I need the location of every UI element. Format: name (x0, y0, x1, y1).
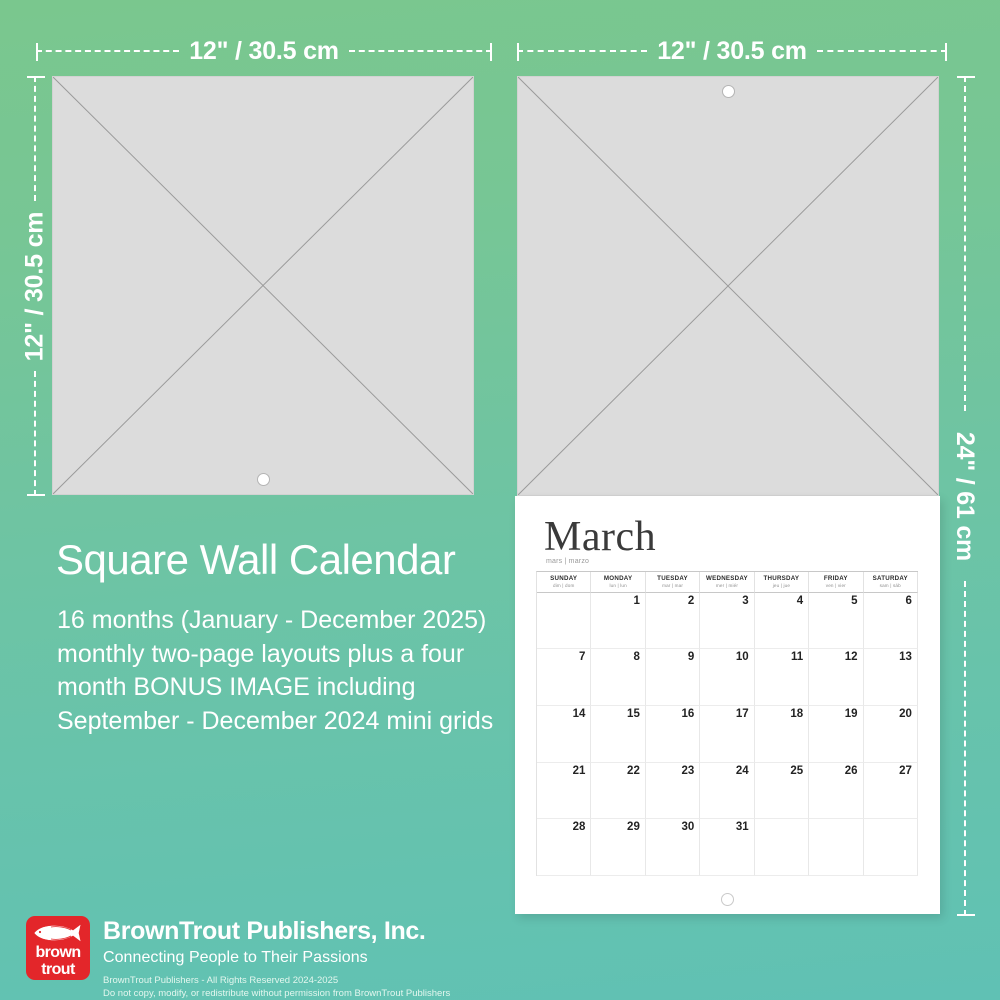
dimension-top-right: 12" / 30.5 cm (517, 36, 947, 66)
placeholder-cross-icon (53, 77, 473, 494)
calendar-day-cell[interactable]: 19 (809, 706, 863, 763)
calendar-day-cell[interactable]: 13 (864, 649, 918, 706)
calendar-week-row: 7 8 9 10 11 12 13 (537, 649, 918, 706)
footer: brown trout BrownTrout Publishers, Inc. … (26, 916, 450, 1000)
calendar-day-cell[interactable]: 22 (591, 763, 645, 820)
day-number: 23 (681, 766, 694, 778)
day-header-abbr: lun | lun (591, 583, 644, 589)
dimension-right-vertical-label: 24" / 61 cm (953, 431, 978, 560)
hanging-hole (257, 473, 270, 486)
day-number: 16 (681, 709, 694, 721)
day-number: 19 (845, 709, 858, 721)
day-number: 1 (633, 596, 639, 608)
calendar-day-cell[interactable] (864, 819, 918, 876)
calendar-day-cell[interactable]: 29 (591, 819, 645, 876)
day-header-name: THURSDAY (755, 575, 808, 583)
day-number: 15 (627, 709, 640, 721)
day-number: 24 (736, 766, 749, 778)
day-number: 7 (579, 652, 585, 664)
dimension-right-vertical: 24" / 61 cm (950, 76, 980, 916)
day-number: 11 (791, 652, 803, 664)
day-header-saturday: SATURDAY sam | sáb (864, 572, 918, 593)
calendar-grid: SUNDAY dim | dom MONDAY lun | lun TUESDA… (536, 571, 918, 876)
day-number: 12 (845, 652, 858, 664)
dimension-top-left-label: 12" / 30.5 cm (189, 39, 339, 64)
day-number: 28 (573, 822, 586, 834)
calendar-day-cell[interactable]: 7 (537, 649, 591, 706)
dimension-rule-bottom (964, 581, 966, 916)
day-number: 10 (736, 652, 749, 664)
day-header-name: MONDAY (591, 575, 644, 583)
dimension-left-vertical-label: 12" / 30.5 cm (23, 211, 48, 361)
day-header-monday: MONDAY lun | lun (591, 572, 645, 593)
dimension-rule-right (817, 50, 947, 52)
day-number: 3 (742, 596, 748, 608)
dimension-rule-top (34, 76, 36, 201)
day-number: 25 (790, 766, 803, 778)
calendar-week-row: 21 22 23 24 25 26 27 (537, 763, 918, 820)
calendar-page: March mars | marzo SUNDAY dim | dom MOND… (515, 496, 940, 914)
company-tagline: Connecting People to Their Passions (103, 947, 450, 969)
hanging-hole (721, 893, 734, 906)
placeholder-cross-icon (518, 77, 938, 495)
day-number: 6 (906, 596, 912, 608)
calendar-day-cell[interactable]: 17 (700, 706, 754, 763)
browntrout-logo: brown trout (26, 916, 90, 980)
calendar-day-cell[interactable]: 25 (755, 763, 809, 820)
calendar-day-cell[interactable] (809, 819, 863, 876)
day-header-name: SATURDAY (864, 575, 917, 583)
day-number: 22 (627, 766, 640, 778)
day-number: 18 (790, 709, 803, 721)
day-header-name: SUNDAY (537, 575, 590, 583)
calendar-day-cell[interactable]: 10 (700, 649, 754, 706)
day-number: 31 (736, 822, 749, 834)
day-header-tuesday: TUESDAY mar | mar (646, 572, 700, 593)
logo-word-bottom: trout (26, 962, 90, 978)
calendar-month-title: March (544, 516, 656, 558)
calendar-day-cell[interactable]: 23 (646, 763, 700, 820)
day-header-name: WEDNESDAY (700, 575, 753, 583)
calendar-day-cell[interactable]: 6 (864, 593, 918, 650)
calendar-day-cell[interactable]: 16 (646, 706, 700, 763)
calendar-day-cell[interactable]: 27 (864, 763, 918, 820)
calendar-day-cell[interactable]: 28 (537, 819, 591, 876)
calendar-week-row: 28 29 30 31 (537, 819, 918, 876)
day-number: 20 (899, 709, 912, 721)
dimension-top-left: 12" / 30.5 cm (36, 36, 492, 66)
day-header-thursday: THURSDAY jeu | jue (755, 572, 809, 593)
copyright-line: BrownTrout Publishers - All Rights Reser… (103, 975, 450, 988)
calendar-day-cell[interactable]: 9 (646, 649, 700, 706)
calendar-header-row: SUNDAY dim | dom MONDAY lun | lun TUESDA… (537, 572, 918, 593)
calendar-day-cell[interactable]: 11 (755, 649, 809, 706)
day-number: 26 (845, 766, 858, 778)
calendar-day-cell[interactable]: 1 (591, 593, 645, 650)
product-description: 16 months (January - December 2025) mont… (57, 604, 507, 738)
calendar-day-cell[interactable]: 26 (809, 763, 863, 820)
dimension-rule-right (349, 50, 492, 52)
calendar-day-cell[interactable]: 12 (809, 649, 863, 706)
calendar-month-translations: mars | marzo (546, 558, 589, 565)
day-number: 29 (627, 822, 640, 834)
day-header-wednesday: WEDNESDAY mer | miér (700, 572, 754, 593)
calendar-day-cell[interactable]: 21 (537, 763, 591, 820)
usage-restriction-line: Do not copy, modify, or redistribute wit… (103, 988, 450, 1000)
day-number: 5 (851, 596, 857, 608)
trout-fish-icon (31, 921, 85, 945)
day-header-friday: FRIDAY ven | vier (809, 572, 863, 593)
calendar-day-cell[interactable]: 24 (700, 763, 754, 820)
day-header-abbr: dim | dom (537, 583, 590, 589)
calendar-day-cell[interactable]: 31 (700, 819, 754, 876)
right-image-panel (517, 76, 939, 496)
day-number: 2 (688, 596, 694, 608)
calendar-day-cell[interactable]: 18 (755, 706, 809, 763)
calendar-day-cell[interactable] (755, 819, 809, 876)
day-number: 30 (681, 822, 694, 834)
day-number: 13 (899, 652, 912, 664)
day-number: 8 (633, 652, 639, 664)
dimension-rule-bottom (34, 371, 36, 496)
dimension-rule-top (964, 76, 966, 411)
left-image-panel (52, 76, 474, 495)
day-header-abbr: mar | mar (646, 583, 699, 589)
dimension-rule-left (36, 50, 179, 52)
page-title: Square Wall Calendar (56, 538, 455, 582)
day-number: 27 (899, 766, 912, 778)
calendar-day-cell[interactable]: 4 (755, 593, 809, 650)
day-header-name: FRIDAY (809, 575, 862, 583)
day-number: 14 (573, 709, 586, 721)
day-number: 21 (573, 766, 586, 778)
day-header-name: TUESDAY (646, 575, 699, 583)
day-number: 17 (736, 709, 749, 721)
day-header-abbr: mer | miér (700, 583, 753, 589)
logo-word-top: brown (26, 945, 90, 961)
day-header-abbr: ven | vier (809, 583, 862, 589)
hanging-hole (722, 85, 735, 98)
calendar-day-cell[interactable]: 2 (646, 593, 700, 650)
calendar-day-cell[interactable]: 8 (591, 649, 645, 706)
product-spec-graphic: 12" / 30.5 cm 12" / 30.5 cm 12" / 30.5 c… (0, 0, 1000, 1000)
dimension-rule-left (517, 50, 647, 52)
day-header-abbr: jeu | jue (755, 583, 808, 589)
day-header-sunday: SUNDAY dim | dom (537, 572, 591, 593)
day-number: 9 (688, 652, 694, 664)
calendar-day-cell[interactable]: 20 (864, 706, 918, 763)
calendar-day-cell[interactable]: 14 (537, 706, 591, 763)
company-name: BrownTrout Publishers, Inc. (103, 918, 450, 946)
day-header-abbr: sam | sáb (864, 583, 917, 589)
calendar-week-row: 1 2 3 4 5 6 (537, 593, 918, 650)
calendar-day-cell[interactable]: 15 (591, 706, 645, 763)
calendar-day-cell[interactable]: 5 (809, 593, 863, 650)
calendar-week-row: 14 15 16 17 18 19 20 (537, 706, 918, 763)
dimension-top-right-label: 12" / 30.5 cm (657, 39, 807, 64)
day-number: 4 (797, 596, 803, 608)
calendar-day-cell[interactable]: 30 (646, 819, 700, 876)
calendar-day-cell[interactable] (537, 593, 591, 650)
calendar-day-cell[interactable]: 3 (700, 593, 754, 650)
dimension-left-vertical: 12" / 30.5 cm (20, 76, 50, 496)
